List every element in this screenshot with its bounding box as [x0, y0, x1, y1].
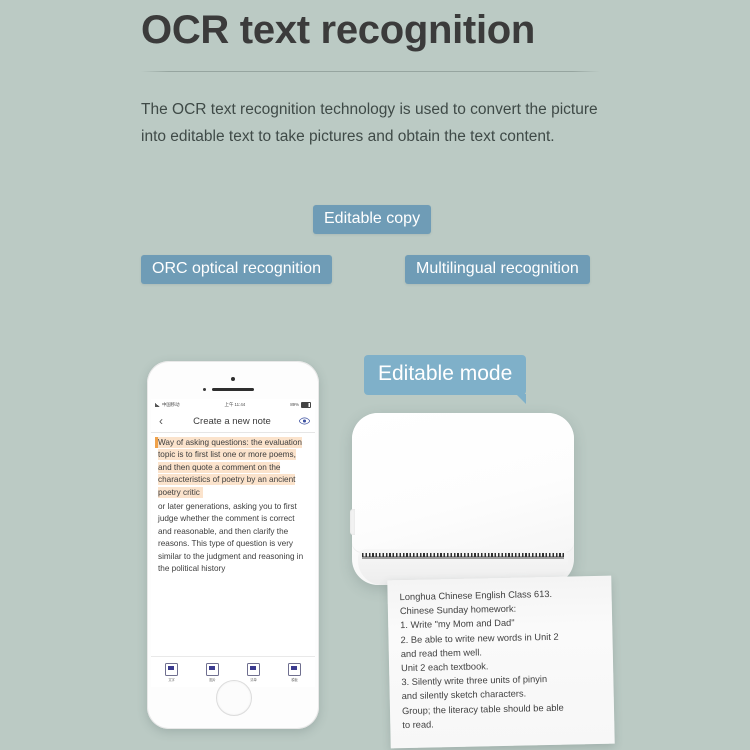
tag-multilingual-recognition[interactable]: Multilingual recognition — [405, 255, 590, 284]
note-remaining-text: or later generations, asking you to firs… — [158, 501, 308, 575]
home-button[interactable] — [216, 680, 252, 716]
tag-orc-optical-recognition[interactable]: ORC optical recognition — [141, 255, 332, 284]
printed-receipt: Longhua Chinese English Class 613. Chine… — [387, 576, 614, 749]
toolbar-item-list[interactable]: 清单 — [243, 663, 265, 682]
earpiece-speaker — [212, 388, 254, 391]
note-highlighted-text: Way of asking questions: the evaluation … — [158, 437, 302, 498]
printer-side-button[interactable] — [350, 509, 355, 535]
tag-editable-copy[interactable]: Editable copy — [313, 205, 431, 234]
image-tool-icon — [206, 663, 219, 676]
note-navbar: ‹ Create a new note — [151, 410, 315, 433]
note-content[interactable]: Way of asking questions: the evaluation … — [151, 432, 315, 654]
toolbar-item-grid[interactable]: 模板 — [284, 663, 306, 682]
thermal-printer — [352, 413, 574, 585]
text-tool-icon — [165, 663, 178, 676]
receipt-line: to read. — [402, 714, 602, 732]
status-bar: 中国移动 上午 11:44 89% — [151, 399, 315, 410]
title-divider — [141, 71, 600, 72]
eye-icon[interactable] — [293, 417, 315, 425]
grid-tool-icon — [288, 663, 301, 676]
toolbar-item-text[interactable]: 文字 — [161, 663, 183, 682]
phone-screen: 中国移动 上午 11:44 89% ‹ Create a new note — [151, 399, 315, 687]
intro-paragraph: The OCR text recognition technology is u… — [141, 96, 611, 150]
status-carrier: 中国移动 — [155, 402, 180, 408]
battery-icon — [301, 402, 311, 408]
note-title: Create a new note — [171, 416, 293, 427]
paper-slot-teeth-icon — [362, 553, 564, 557]
front-camera-icon — [231, 377, 235, 381]
chevron-left-icon[interactable]: ‹ — [151, 415, 171, 427]
toolbar-item-image[interactable]: 图片 — [202, 663, 224, 682]
phone-mockup: 中国移动 上午 11:44 89% ‹ Create a new note — [147, 361, 319, 729]
status-battery: 89% — [290, 402, 311, 408]
list-tool-icon — [247, 663, 260, 676]
editable-mode-callout: Editable mode — [364, 355, 526, 395]
sensor-icon — [203, 388, 206, 391]
page-title: OCR text recognition — [141, 8, 535, 53]
status-time: 上午 11:44 — [225, 402, 246, 408]
signal-icon — [155, 403, 160, 407]
ocr-feature-page: OCR text recognition The OCR text recogn… — [0, 0, 750, 750]
printer-lid — [352, 413, 574, 553]
